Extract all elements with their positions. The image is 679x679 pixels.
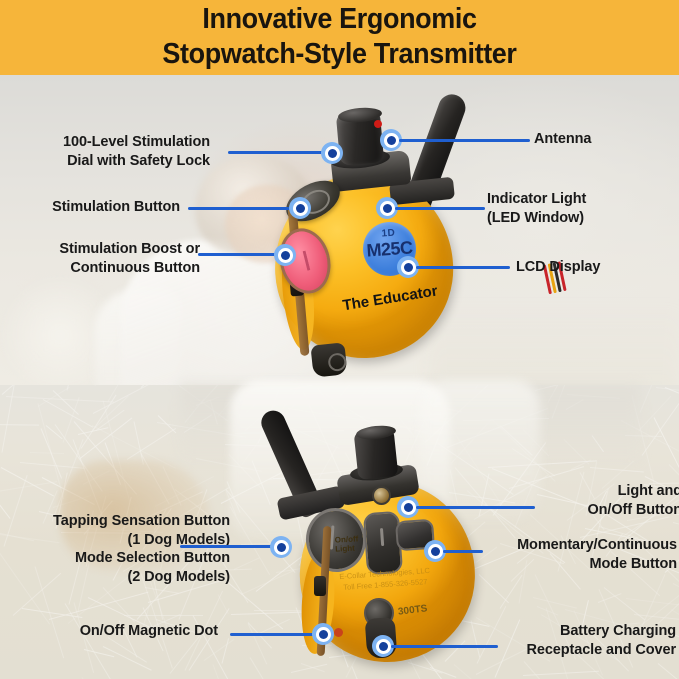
callout-label-lcd-display: LCD Display bbox=[516, 258, 676, 277]
callout-dot-stimulation-button[interactable] bbox=[289, 197, 311, 219]
callout-label-battery-charging: Battery Charging Receptacle and Cover bbox=[504, 622, 676, 659]
dial-red-indicator bbox=[374, 120, 382, 128]
lead-line-light-onoff bbox=[416, 506, 535, 509]
lead-line-magnetic-dot bbox=[230, 633, 320, 636]
transmitter-back-view: On/off Light E-Collar Technologies, LLC … bbox=[280, 400, 470, 665]
light-button-mark bbox=[380, 528, 384, 546]
onoff-light-silkscreen: On/off Light bbox=[335, 534, 359, 553]
callout-dot-stimulation-dial[interactable] bbox=[321, 142, 343, 164]
callout-dot-tapping-mode[interactable] bbox=[270, 536, 292, 558]
callout-label-stimulation-boost: Stimulation Boost or Continuous Button bbox=[20, 240, 200, 277]
housing-screw bbox=[372, 486, 391, 505]
callout-label-antenna: Antenna bbox=[534, 130, 674, 149]
infographic-page: Innovative Ergonomic Stopwatch-Style Tra… bbox=[0, 0, 679, 679]
title-line-2: Stopwatch-Style Transmitter bbox=[162, 38, 516, 70]
callout-label-tapping-mode: Tapping Sensation Button (1 Dog Models) … bbox=[18, 512, 230, 586]
bottom-clip bbox=[310, 342, 347, 377]
callout-dot-magnetic-dot[interactable] bbox=[312, 623, 334, 645]
callout-label-magnetic-dot: On/Off Magnetic Dot bbox=[18, 622, 218, 641]
boost-button-mark bbox=[303, 247, 324, 271]
lead-line-stimulation-button bbox=[188, 207, 296, 210]
bottom-clip-ring bbox=[327, 352, 347, 372]
lead-line-antenna bbox=[399, 139, 530, 142]
transmitter-front-view: 1D M25C The Educator bbox=[250, 88, 470, 378]
lead-line-stimulation-boost bbox=[198, 253, 282, 256]
lead-line-tapping-mode bbox=[180, 545, 278, 548]
lead-line-stimulation-dial bbox=[228, 151, 328, 154]
lead-line-indicator-light bbox=[395, 207, 485, 210]
callout-label-stimulation-dial: 100-Level Stimulation Dial with Safety L… bbox=[20, 133, 210, 170]
callout-label-stimulation-button: Stimulation Button bbox=[20, 198, 180, 217]
lead-line-lcd-display bbox=[416, 266, 510, 269]
lead-line-battery-charging bbox=[391, 645, 498, 648]
header-banner: Innovative Ergonomic Stopwatch-Style Tra… bbox=[0, 0, 679, 75]
strap-clip-back bbox=[314, 576, 326, 596]
callout-label-indicator-light: Indicator Light (LED Window) bbox=[487, 190, 667, 227]
callout-label-momentary-continuous: Momentary/Continuous Mode Button bbox=[461, 536, 677, 573]
callout-label-light-onoff: Light and On/Off Button bbox=[542, 482, 679, 519]
onoff-magnetic-dot[interactable] bbox=[334, 628, 343, 637]
title-line-1: Innovative Ergonomic bbox=[202, 3, 476, 35]
callout-dot-stimulation-boost[interactable] bbox=[274, 244, 296, 266]
page-title: Innovative Ergonomic Stopwatch-Style Tra… bbox=[24, 2, 655, 72]
